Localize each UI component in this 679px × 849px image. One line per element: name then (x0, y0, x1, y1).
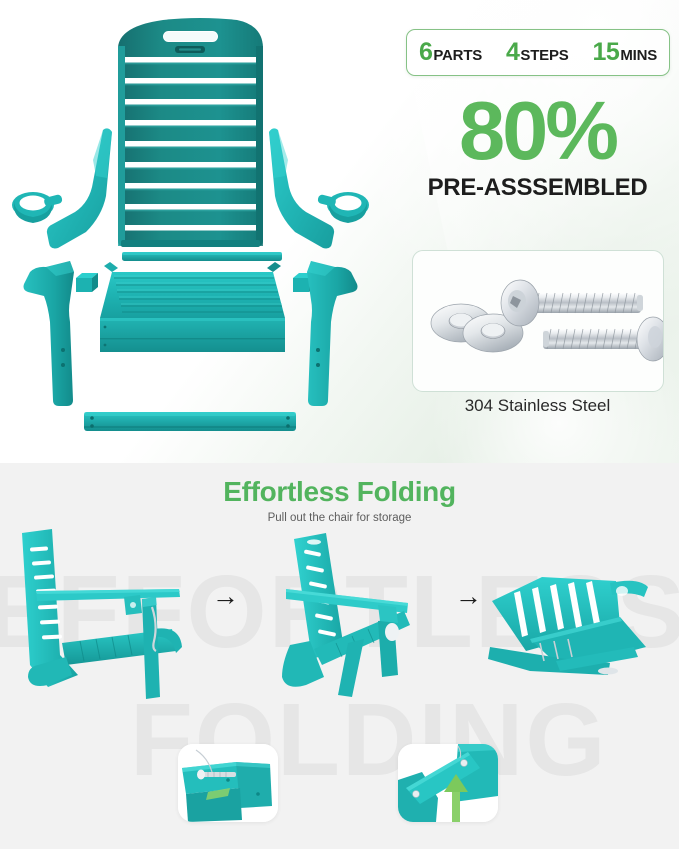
pre-assembled-label: PRE-ASSSEMBLED (400, 174, 675, 202)
spec-parts-unit: PARTS (433, 47, 482, 64)
hardware-card (412, 250, 664, 392)
exploded-parts-diagram (0, 0, 400, 463)
folding-step-1-open-chair (4, 525, 214, 705)
assembly-overview-section: 6 PARTS 4 STEPS 15 MINS 80% PRE-ASSSEMBL… (0, 0, 679, 463)
folding-arrow-1: → (212, 583, 239, 610)
part-leg-left (24, 261, 75, 406)
spec-mins: 15 MINS (593, 38, 658, 67)
folding-title: Effortless Folding (0, 476, 679, 508)
bolt-upper (501, 280, 643, 326)
bolt-lower (543, 317, 663, 361)
part-seat-assembly (100, 262, 285, 352)
part-backrest (118, 18, 263, 247)
part-leg-right (307, 261, 358, 406)
spec-steps-unit: STEPS (520, 47, 568, 64)
detail-callout-right (398, 744, 498, 822)
spec-parts: 6 PARTS (419, 38, 482, 67)
pre-assembled-percent: 80% (400, 92, 675, 171)
specs-summary-pill: 6 PARTS 4 STEPS 15 MINS (406, 29, 670, 76)
folding-subtitle: Pull out the chair for storage (0, 512, 679, 524)
part-armrest-right (269, 128, 369, 248)
spec-steps-number: 4 (506, 38, 519, 67)
pre-assembled-callout: 80% PRE-ASSSEMBLED (400, 92, 675, 202)
product-infographic: 6 PARTS 4 STEPS 15 MINS 80% PRE-ASSSEMBL… (0, 0, 679, 849)
folding-demo-section: EFFORTLESS FOLDING Effortless Folding Pu… (0, 463, 679, 849)
folding-step-3-folded-flat (470, 543, 675, 693)
spec-mins-unit: MINS (620, 47, 657, 64)
part-spacer-left (76, 273, 98, 292)
part-top-crossbar (122, 252, 282, 261)
cup-holder-left (12, 192, 63, 223)
detail-callout-left (178, 744, 278, 822)
part-armrest-left (12, 128, 112, 248)
spec-steps: 4 STEPS (506, 38, 569, 67)
stainless-hardware-illustration (413, 251, 663, 391)
hardware-caption: 304 Stainless Steel (400, 396, 675, 416)
spec-parts-number: 6 (419, 38, 432, 67)
folding-step-2-mid-fold (252, 525, 452, 705)
part-bottom-stretcher (84, 412, 296, 431)
spec-mins-number: 15 (593, 38, 620, 67)
cup-holder-right (317, 192, 369, 223)
